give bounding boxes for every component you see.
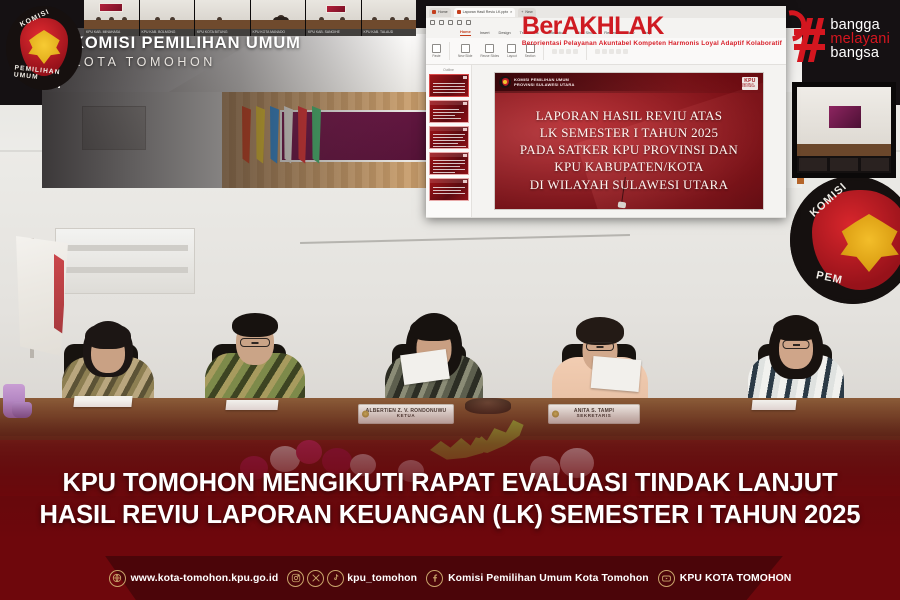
page-subtitle: KOTA TOMOHON: [72, 55, 216, 69]
tiktok-icon[interactable]: [327, 570, 344, 587]
footer-facebook[interactable]: Komisi Pemilihan Umum Kota Tomohon: [426, 570, 649, 587]
slide-title-line-4: KPU KABUPATEN/KOTA: [495, 158, 763, 175]
slide-title-line-5: DI WILAYAH SULAWESI UTARA: [495, 176, 763, 193]
ribbon-tab-home[interactable]: Home: [460, 29, 471, 36]
powerpoint-body: Outline: [426, 65, 786, 217]
footer-website[interactable]: www.kota-tomohon.kpu.go.id: [109, 570, 279, 587]
hashtag-words: bangga melayani bangsa: [830, 18, 890, 61]
window-tab-label: Laporan Hasil Reviu LK.pptx: [463, 10, 509, 14]
powerpoint-icon: [432, 10, 436, 14]
ribbon-layout-group[interactable]: Layout: [507, 44, 517, 58]
ribbon-group-label: Layout: [507, 54, 517, 58]
kpu-logo: KOMISI PEMILIHAN UMUM: [6, 6, 82, 90]
slide-title-line-2: LK SEMESTER I TAHUN 2025: [495, 124, 763, 141]
active-slide[interactable]: KOMISI PEMILIHAN UMUM PROVINSI SULAWESI …: [495, 73, 763, 209]
vc-participant-tile[interactable]: KPU KOTA MANADO: [251, 0, 306, 36]
vc-participant-label: KPU KAB. SANGIHE: [306, 29, 361, 36]
footer-bar: www.kota-tomohon.kpu.go.id: [0, 556, 900, 600]
hashtag-icon: [795, 18, 825, 62]
more-icon[interactable]: [466, 20, 471, 25]
slide-thumbnail[interactable]: [429, 126, 469, 149]
footer-social-handle: kpu_tomohon: [347, 573, 417, 584]
ribbon-group-label: New Slide: [458, 54, 472, 58]
hashtag-line-3: bangsa: [830, 46, 890, 60]
vc-right-panel[interactable]: [792, 82, 896, 178]
reuse-slides-icon[interactable]: [485, 44, 494, 53]
ribbon-tab-design[interactable]: Design: [499, 30, 511, 35]
footer-facebook-label: Komisi Pemilihan Umum Kota Tomohon: [448, 573, 649, 584]
vc-participant-tile[interactable]: KPU KAB. MINAHASA: [84, 0, 139, 36]
slide-thumbnail[interactable]: [429, 100, 469, 123]
bold-icon[interactable]: [552, 49, 557, 54]
slide-title-line-1: LAPORAN HASIL REVIU ATAS: [495, 107, 763, 124]
status-bar[interactable]: Slide 1 of 5 Notes Comments 68%: [426, 217, 786, 218]
bullets-icon[interactable]: [595, 49, 600, 54]
ribbon-separator: [449, 42, 450, 60]
slide-thumbnail-panel[interactable]: Outline: [426, 65, 472, 217]
youtube-icon[interactable]: [658, 570, 675, 587]
paste-icon[interactable]: [432, 44, 441, 53]
caption-line-2: HASIL REVIU LAPORAN KEUANGAN (LK) SEMEST…: [0, 499, 900, 532]
footer-youtube-label: KPU KOTA TOMOHON: [680, 573, 792, 584]
poster-canvas: KOMISI PEM: [0, 0, 900, 600]
videoconference-grid[interactable]: KPU KAB. MINAHASA KPU KAB. BOLMONG KPU K…: [84, 0, 416, 36]
vc-participant-label: KPU KAB. TALAUD: [362, 29, 417, 36]
slide-badge-sub: REPUBLIK INDONESIA: [742, 84, 758, 89]
facebook-icon[interactable]: [426, 570, 443, 587]
slide-title: LAPORAN HASIL REVIU ATAS LK SEMESTER I T…: [495, 107, 763, 193]
paragraph-controls[interactable]: [595, 49, 628, 54]
slide-org-line2: PROVINSI SULAWESI UTARA: [514, 82, 575, 87]
present-icon[interactable]: [457, 20, 462, 25]
x-twitter-icon[interactable]: [307, 570, 324, 587]
font-controls[interactable]: [552, 49, 578, 54]
caption-headline: KPU TOMOHON MENGIKUTI RAPAT EVALUASI TIN…: [0, 467, 900, 532]
italic-icon[interactable]: [559, 49, 564, 54]
ribbon-reuse-group[interactable]: Reuse Slides: [480, 44, 499, 58]
slide-kpu-badge: KPU REPUBLIK INDONESIA: [742, 77, 758, 90]
powerpoint-icon: [457, 10, 461, 14]
berakhlak-branding: BerAKHLAK Berorientasi Pelayanan Akuntab…: [522, 14, 782, 47]
slide-thumbnail[interactable]: [429, 74, 469, 97]
underline-icon[interactable]: [566, 49, 571, 54]
vc-participant-label: KPU KOTA MANADO: [251, 29, 306, 36]
bangga-melayani-bangsa-logo: bangga melayani bangsa: [795, 18, 890, 62]
undo-icon[interactable]: [439, 20, 444, 25]
align-left-icon[interactable]: [609, 49, 614, 54]
ribbon-group-label: Section: [525, 54, 536, 58]
numbering-icon[interactable]: [602, 49, 607, 54]
ribbon-group-label: Paste: [432, 54, 440, 58]
footer-website-label: www.kota-tomohon.kpu.go.id: [131, 573, 279, 584]
ribbon-newslide-group[interactable]: New Slide: [458, 44, 472, 58]
window-tab-home[interactable]: Home: [429, 8, 451, 17]
wall-panel: [55, 228, 195, 294]
font-color-icon[interactable]: [573, 49, 578, 54]
footer-youtube[interactable]: KPU KOTA TOMOHON: [658, 570, 792, 587]
slide-thumbnail[interactable]: [429, 178, 469, 201]
vc-participant-label: KPU KAB. BOLMONG: [140, 29, 195, 36]
document-paper: [400, 349, 450, 385]
window-tab-label: Home: [438, 10, 448, 14]
instagram-icon[interactable]: [287, 570, 304, 587]
indonesian-flag: [16, 236, 68, 356]
berakhlak-wordmark: BerAKHLAK: [522, 14, 782, 39]
berakhlak-tagline: Berorientasi Pelayanan Akuntabel Kompete…: [522, 40, 782, 47]
slide-header: KOMISI PEMILIHAN UMUM PROVINSI SULAWESI …: [495, 73, 763, 91]
ribbon-group-label: Reuse Slides: [480, 54, 499, 58]
close-icon[interactable]: ×: [510, 10, 512, 14]
slide-org-text: KOMISI PEMILIHAN UMUM PROVINSI SULAWESI …: [514, 77, 575, 87]
footer-social-group[interactable]: kpu_tomohon: [287, 570, 417, 587]
vc-participant-tile[interactable]: KPU KAB. BOLMONG: [140, 0, 195, 36]
slide-thumbnail[interactable]: [429, 152, 469, 175]
vc-participant-tile[interactable]: KPU KAB. SANGIHE: [306, 0, 361, 36]
align-center-icon[interactable]: [616, 49, 621, 54]
vc-participant-tile[interactable]: KPU KOTA BITUNG: [195, 0, 250, 36]
hashtag-line-2: melayani: [830, 32, 890, 46]
hashtag-line-1: bangga: [830, 18, 890, 32]
slide-title-line-3: PADA SATKER KPU PROVINSI DAN: [495, 141, 763, 158]
window-tab-document[interactable]: Laporan Hasil Reviu LK.pptx ×: [454, 8, 516, 17]
thumbnail-panel-label: Outline: [428, 68, 469, 72]
layout-icon[interactable]: [507, 44, 516, 53]
vc-participant-label: KPU KAB. MINAHASA: [84, 29, 139, 36]
slide-canvas[interactable]: KOMISI PEMILIHAN UMUM PROVINSI SULAWESI …: [472, 65, 786, 217]
document-paper: [591, 356, 642, 392]
new-slide-icon[interactable]: [461, 44, 470, 53]
ribbon-paste-group[interactable]: Paste: [432, 44, 441, 58]
kpu-logo-icon: [499, 76, 511, 88]
caption-line-1: KPU TOMOHON MENGIKUTI RAPAT EVALUASI TIN…: [0, 467, 900, 500]
globe-icon: [109, 570, 126, 587]
page-title: KOMISI PEMILIHAN UMUM: [72, 34, 301, 53]
ribbon-tab-insert[interactable]: Insert: [480, 30, 490, 35]
redo-icon[interactable]: [448, 20, 453, 25]
vc-participant-label: KPU KOTA BITUNG: [195, 29, 250, 36]
save-icon[interactable]: [430, 20, 435, 25]
align-right-icon[interactable]: [623, 49, 628, 54]
vc-participant-tile[interactable]: KPU KAB. TALAUD: [362, 0, 417, 36]
